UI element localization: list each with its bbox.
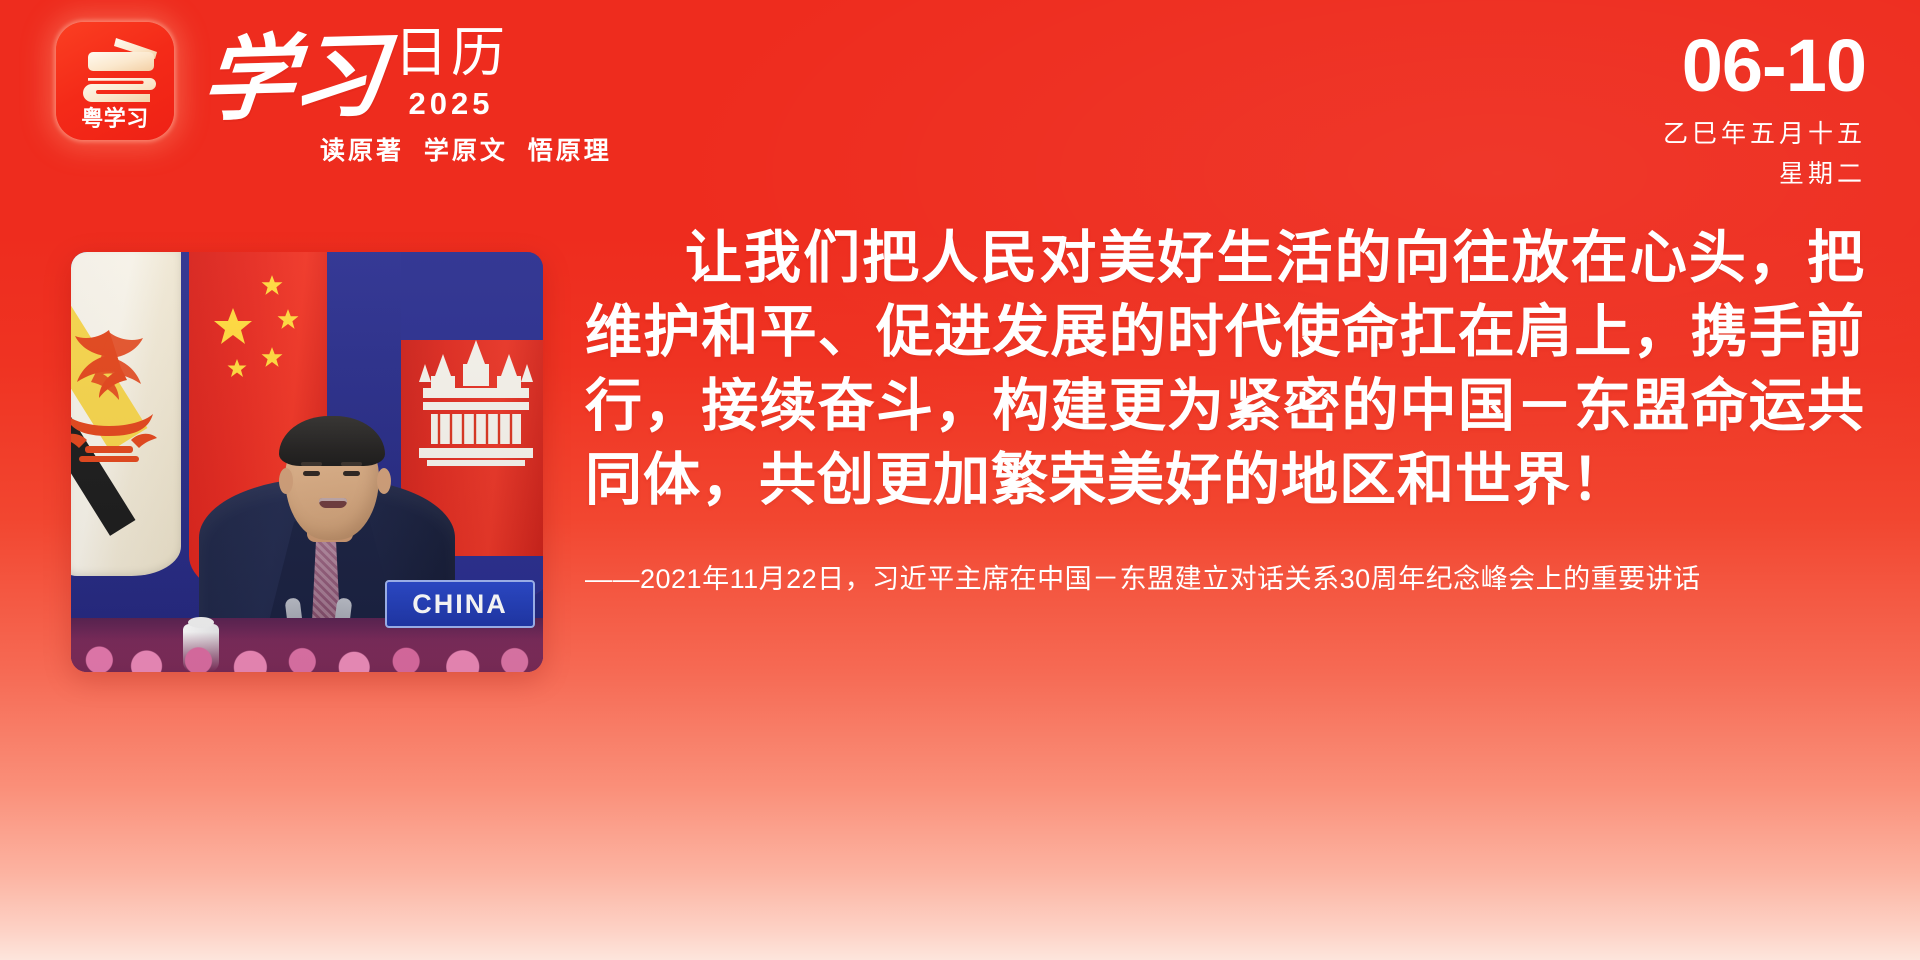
date-weekday: 星期二	[1663, 159, 1866, 189]
ear-left	[279, 468, 293, 494]
brand-block: 粤学习 学习 日历 2025 读原著 学原文 悟原理	[56, 22, 612, 164]
hair	[279, 416, 385, 466]
flower-arrangement	[71, 632, 543, 672]
ear-right	[377, 468, 391, 494]
date-lunar: 乙巳年五月十五	[1663, 119, 1866, 149]
mouth	[319, 498, 347, 508]
brand-text: 学习 日历 2025 读原著 学原文 悟原理	[198, 22, 612, 164]
date-gregorian: 06-10	[1663, 30, 1866, 103]
eye-left	[303, 471, 320, 476]
eye-right	[343, 471, 360, 476]
eyebrow-left	[301, 462, 322, 466]
eyebrow-right	[341, 462, 362, 466]
brand-subtitle: 日历	[394, 26, 508, 80]
app-icon[interactable]: 粤学习	[56, 22, 174, 140]
quote-block: 让我们把人民对美好生活的向往放在心头，把维护和平、促进发展的时代使命扛在肩上，携…	[585, 222, 1865, 602]
page-header: 粤学习 学习 日历 2025 读原著 学原文 悟原理 06-10 乙巳年五月十五…	[0, 0, 1920, 205]
photo-image: CHINA	[71, 252, 543, 672]
brand-slogan: 读原著 学原文 悟原理	[320, 139, 612, 164]
app-icon-label: 粤学习	[56, 108, 174, 130]
date-block: 06-10 乙巳年五月十五 星期二	[1663, 30, 1866, 189]
brand-title: 学习	[198, 33, 387, 125]
brand-title-row: 学习 日历 2025	[198, 26, 612, 125]
nameplate-label: CHINA	[412, 589, 508, 620]
photo-card[interactable]: CHINA	[71, 252, 543, 672]
quote-text: 让我们把人民对美好生活的向往放在心头，把维护和平、促进发展的时代使命扛在肩上，携…	[585, 222, 1865, 518]
quote-attribution: ——2021年11月22日，习近平主席在中国－东盟建立对话关系30周年纪念峰会上…	[585, 558, 1830, 602]
country-nameplate: CHINA	[385, 580, 535, 628]
book-icon	[56, 34, 174, 102]
brand-year: 2025	[409, 88, 494, 119]
brand-sub-block: 日历 2025	[394, 26, 508, 125]
